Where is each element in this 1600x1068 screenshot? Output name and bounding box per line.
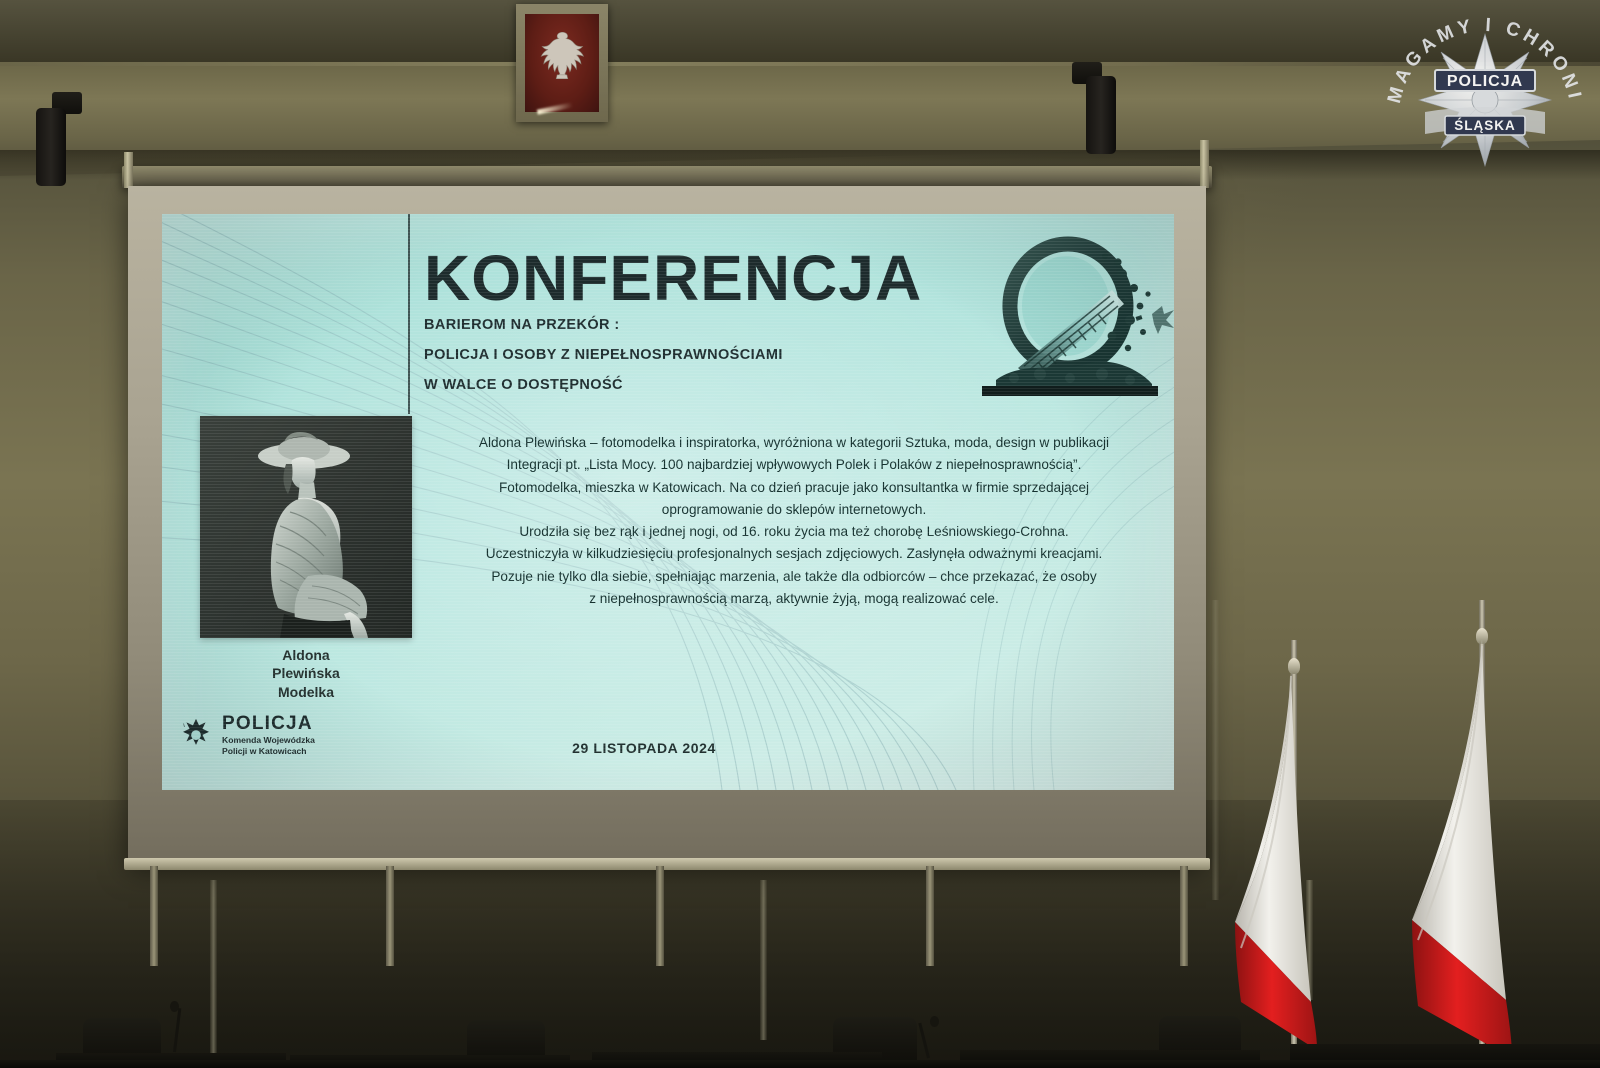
police-logo-text: POLICJA Komenda Wojewódzka Policji w Kat… — [222, 714, 315, 758]
screen-stand-leg — [386, 866, 394, 966]
slide-subtitle: BARIEROM NA PRZEKÓR : POLICJA I OSOBY Z … — [424, 310, 1044, 400]
subtitle-line-3: W WALCE O DOSTĘPNOŚĆ — [424, 370, 1044, 400]
photo-caption: Aldona Plewińska Modelka — [200, 646, 412, 701]
body-line: Fotomodelka, mieszka w Katowicach. Na co… — [444, 477, 1144, 499]
screen-support-arm — [1200, 140, 1209, 188]
ceiling — [0, 0, 1600, 66]
screen-stand-leg — [1180, 866, 1188, 966]
conference-room-photo: KONFERENCJA BARIEROM NA PRZEKÓR : POLICJ… — [0, 0, 1600, 1068]
coat-of-arms-shield — [525, 14, 599, 112]
police-logo-line1: Komenda Wojewódzka — [222, 735, 315, 746]
polish-flag-left — [1225, 672, 1335, 1052]
wall-trim-strip — [760, 880, 767, 1040]
screen-support-arm — [124, 152, 133, 188]
emblem-light-glint — [537, 102, 573, 114]
body-line: Uczestniczyła w kilkudziesięciu profesjo… — [444, 543, 1144, 565]
title-divider-rule — [408, 214, 410, 414]
body-line: Pozuje nie tylko dla siebie, spełniając … — [444, 566, 1144, 588]
svg-text:\: \ — [183, 723, 185, 728]
slide-body-text: Aldona Plewińska – fotomodelka i inspira… — [444, 432, 1144, 610]
slide-title: KONFERENCJA — [424, 246, 922, 310]
watermark-badge-bottom: ŚLĄSKA — [1454, 118, 1516, 133]
police-star-icon: \ — [178, 718, 214, 754]
caption-last-name: Plewińska — [200, 664, 412, 682]
police-logo-title: POLICJA — [222, 714, 315, 733]
body-line: oprogramowanie do sklepów internetowych. — [444, 499, 1144, 521]
caption-role: Modelka — [200, 683, 412, 701]
wall-trim-strip — [210, 880, 217, 1068]
police-logo-block: \ POLICJA Komenda Wojewódzka Policji w K… — [178, 714, 315, 758]
screen-stand-leg — [656, 866, 664, 966]
model-portrait-photo — [200, 416, 412, 638]
screen-stand-leg — [926, 866, 934, 966]
polish-coat-of-arms-frame — [516, 4, 608, 122]
body-line: Integracji pt. „Lista Mocy. 100 najbardz… — [444, 454, 1144, 476]
body-line: Aldona Plewińska – fotomodelka i inspira… — [444, 432, 1144, 454]
projector-screen-case — [122, 166, 1212, 188]
presentation-slide: KONFERENCJA BARIEROM NA PRZEKÓR : POLICJ… — [162, 214, 1174, 790]
wall-trim-strip — [1212, 600, 1219, 900]
body-line: Urodziła się bez rąk i jednej nogi, od 1… — [444, 521, 1144, 543]
slide-date: 29 LISTOPADA 2024 — [444, 740, 844, 756]
body-line: z niepełnosprawnością marzą, aktywnie ży… — [444, 588, 1144, 610]
microphone-head — [930, 1016, 939, 1027]
broken-ring-with-stairway-icon — [962, 228, 1174, 396]
policja-slaska-watermark: POMAGAMY I CHRONIMY POLICJA — [1382, 8, 1588, 176]
subtitle-line-2: POLICJA I OSOBY Z NIEPEŁNOSPRAWNOŚCIAMI — [424, 340, 1044, 370]
caption-first-name: Aldona — [200, 646, 412, 664]
watermark-badge-top: POLICJA — [1447, 73, 1523, 90]
conference-desk-front-row — [0, 1060, 1600, 1068]
polish-flag-right — [1400, 640, 1530, 1060]
screen-weight-bar — [124, 858, 1210, 870]
police-logo-line2: Policji w Katowicach — [222, 746, 315, 757]
microphone-head — [170, 1001, 179, 1012]
screen-stand-leg — [150, 866, 158, 966]
white-eagle-icon — [531, 25, 593, 98]
subtitle-line-1: BARIEROM NA PRZEKÓR : — [424, 310, 1044, 340]
